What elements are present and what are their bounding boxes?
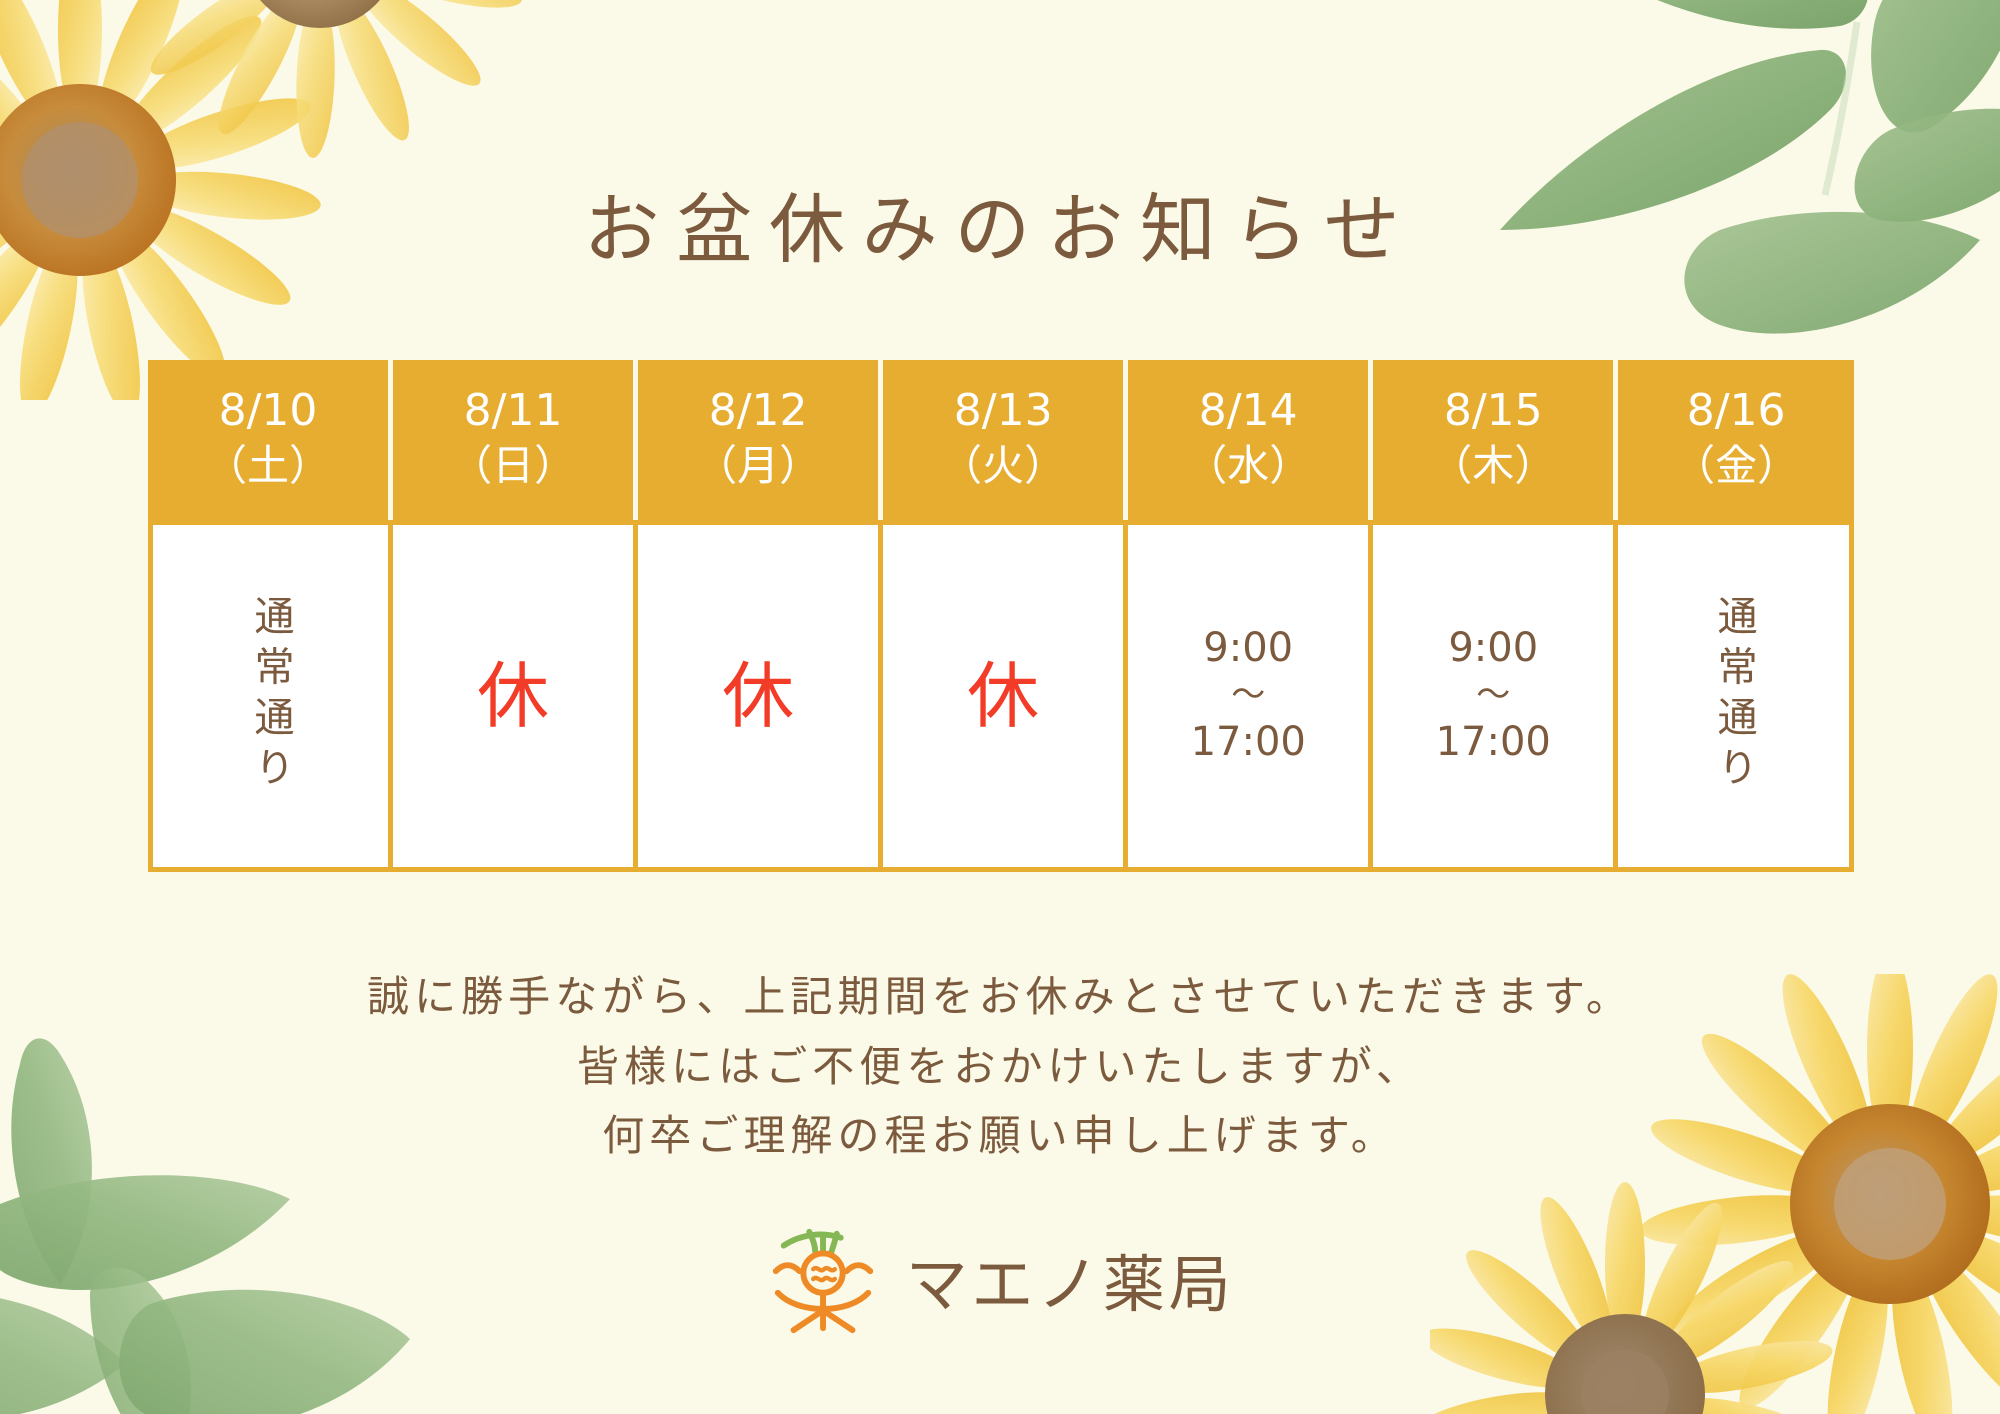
time-range-separator: 〜 (1191, 677, 1306, 714)
schedule-date: 8/16 (1687, 385, 1786, 436)
schedule-date: 8/10 (219, 385, 318, 436)
schedule-day-of-week: （木） (1373, 439, 1613, 494)
schedule-status-cell: 9:00 〜 17:00 (1128, 520, 1373, 872)
schedule-status-cell: 通常通り (1618, 520, 1854, 872)
table-header-row: 8/10 （土） 8/11 （日） 8/12 （月） 8/13 （火） 8/14 (148, 360, 1854, 520)
schedule-header-cell: 8/15 （木） (1373, 360, 1618, 520)
schedule-date: 8/11 (464, 385, 563, 436)
schedule-day-of-week: （月） (638, 439, 878, 494)
schedule-status-cell: 休 (883, 520, 1128, 872)
status-closed: 休 (967, 660, 1039, 732)
status-normal: 通常通り (1714, 595, 1754, 797)
schedule-day-of-week: （水） (1128, 439, 1368, 494)
schedule-day-of-week: （金） (1618, 439, 1854, 494)
schedule-header-cell: 8/12 （月） (638, 360, 883, 520)
open-time: 9:00 (1203, 625, 1293, 671)
notice-message-line-1: 誠に勝手ながら、上記期間をお休みとさせていただきます。 (0, 962, 2000, 1032)
schedule-day-of-week: （日） (393, 439, 633, 494)
kusuri-kanji-person-icon (766, 1220, 884, 1338)
close-time: 17:00 (1436, 719, 1551, 765)
status-hours: 9:00 〜 17:00 (1436, 620, 1551, 771)
page-title: お盆休みのお知らせ (0, 168, 2000, 278)
schedule-status-cell: 9:00 〜 17:00 (1373, 520, 1618, 872)
pharmacy-logo: マエノ薬局 (0, 1220, 2000, 1338)
table-status-row: 通常通り 休 休 休 (148, 520, 1854, 872)
schedule-date: 8/13 (954, 385, 1053, 436)
schedule-date: 8/15 (1444, 385, 1543, 436)
schedule-header-cell: 8/10 （土） (148, 360, 393, 520)
status-closed: 休 (722, 660, 794, 732)
schedule-day-of-week: （火） (883, 439, 1123, 494)
schedule-day-of-week: （土） (148, 439, 388, 494)
schedule-status-cell: 休 (638, 520, 883, 872)
pharmacy-name: マエノ薬局 (906, 1234, 1235, 1324)
open-time: 9:00 (1448, 625, 1538, 671)
schedule-header-cell: 8/14 （水） (1128, 360, 1373, 520)
time-range-separator: 〜 (1436, 677, 1551, 714)
schedule-header-cell: 8/13 （火） (883, 360, 1128, 520)
schedule-header-cell: 8/11 （日） (393, 360, 638, 520)
schedule-date: 8/14 (1199, 385, 1298, 436)
status-closed: 休 (477, 660, 549, 732)
schedule-header-cell: 8/16 （金） (1618, 360, 1854, 520)
notice-message-line-3: 何卒ご理解の程お願い申し上げます。 (0, 1101, 2000, 1171)
schedule-date: 8/12 (709, 385, 808, 436)
close-time: 17:00 (1191, 719, 1306, 765)
notice-message-line-2: 皆様にはご不便をおかけいたしますが、 (0, 1032, 2000, 1102)
holiday-schedule-table: 8/10 （土） 8/11 （日） 8/12 （月） 8/13 （火） 8/14 (148, 360, 1854, 872)
schedule-status-cell: 休 (393, 520, 638, 872)
status-normal: 通常通り (251, 595, 291, 797)
status-hours: 9:00 〜 17:00 (1191, 620, 1306, 771)
obon-holiday-notice-poster: お盆休みのお知らせ 8/10 （土） 8/11 （日） 8/12 （月） 8/1… (0, 0, 2000, 1414)
notice-message: 誠に勝手ながら、上記期間をお休みとさせていただきます。 皆様にはご不便をおかけい… (0, 962, 2000, 1171)
schedule-status-cell: 通常通り (148, 520, 393, 872)
